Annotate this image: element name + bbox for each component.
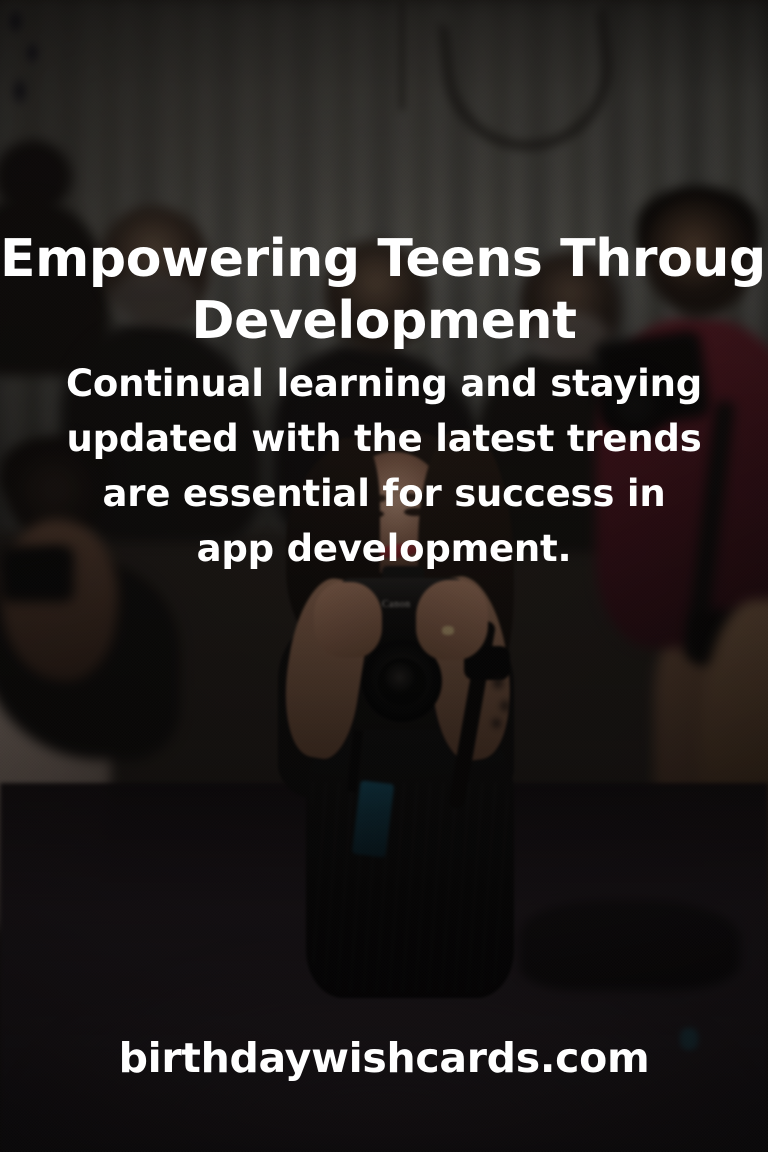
page-title: Empowering Teens Through App Development <box>0 228 768 352</box>
page-subtitle-line-4: app development. <box>0 521 768 576</box>
page-subtitle-line-3: are essential for success in <box>0 466 768 521</box>
page-subtitle-line-2: updated with the latest trends <box>0 411 768 466</box>
page-title-line-1: Empowering Teens Through App <box>0 228 768 290</box>
page-subtitle-line-1: Continual learning and staying <box>0 356 768 411</box>
text-overlay: Empowering Teens Through App Development… <box>0 0 768 1152</box>
page-title-line-2: Development <box>0 290 768 352</box>
page-subtitle: Continual learning and staying updated w… <box>0 356 768 576</box>
site-url[interactable]: birthdaywishcards.com <box>0 1034 768 1082</box>
poster-canvas: Canon Empowering Teens Through App Devel… <box>0 0 768 1152</box>
